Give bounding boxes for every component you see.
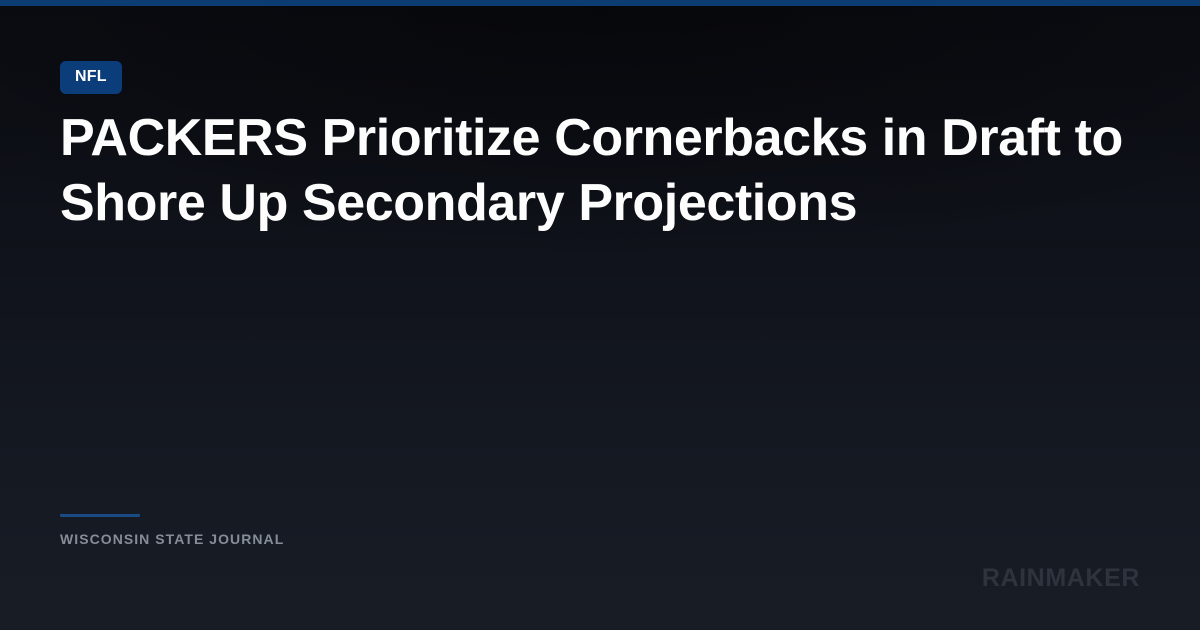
card-content: NFL PACKERS Prioritize Cornerbacks in Dr… [60,0,1160,630]
source-name: WISCONSIN STATE JOURNAL [60,532,284,546]
card-footer: WISCONSIN STATE JOURNAL [60,514,284,546]
top-accent-bar [0,0,1200,6]
brand-watermark: RAINMAKER [982,566,1140,591]
source-accent-rule [60,514,140,517]
category-badge[interactable]: NFL [60,61,122,94]
headline: PACKERS Prioritize Cornerbacks in Draft … [60,106,1165,236]
social-share-card: NFL PACKERS Prioritize Cornerbacks in Dr… [0,0,1200,630]
